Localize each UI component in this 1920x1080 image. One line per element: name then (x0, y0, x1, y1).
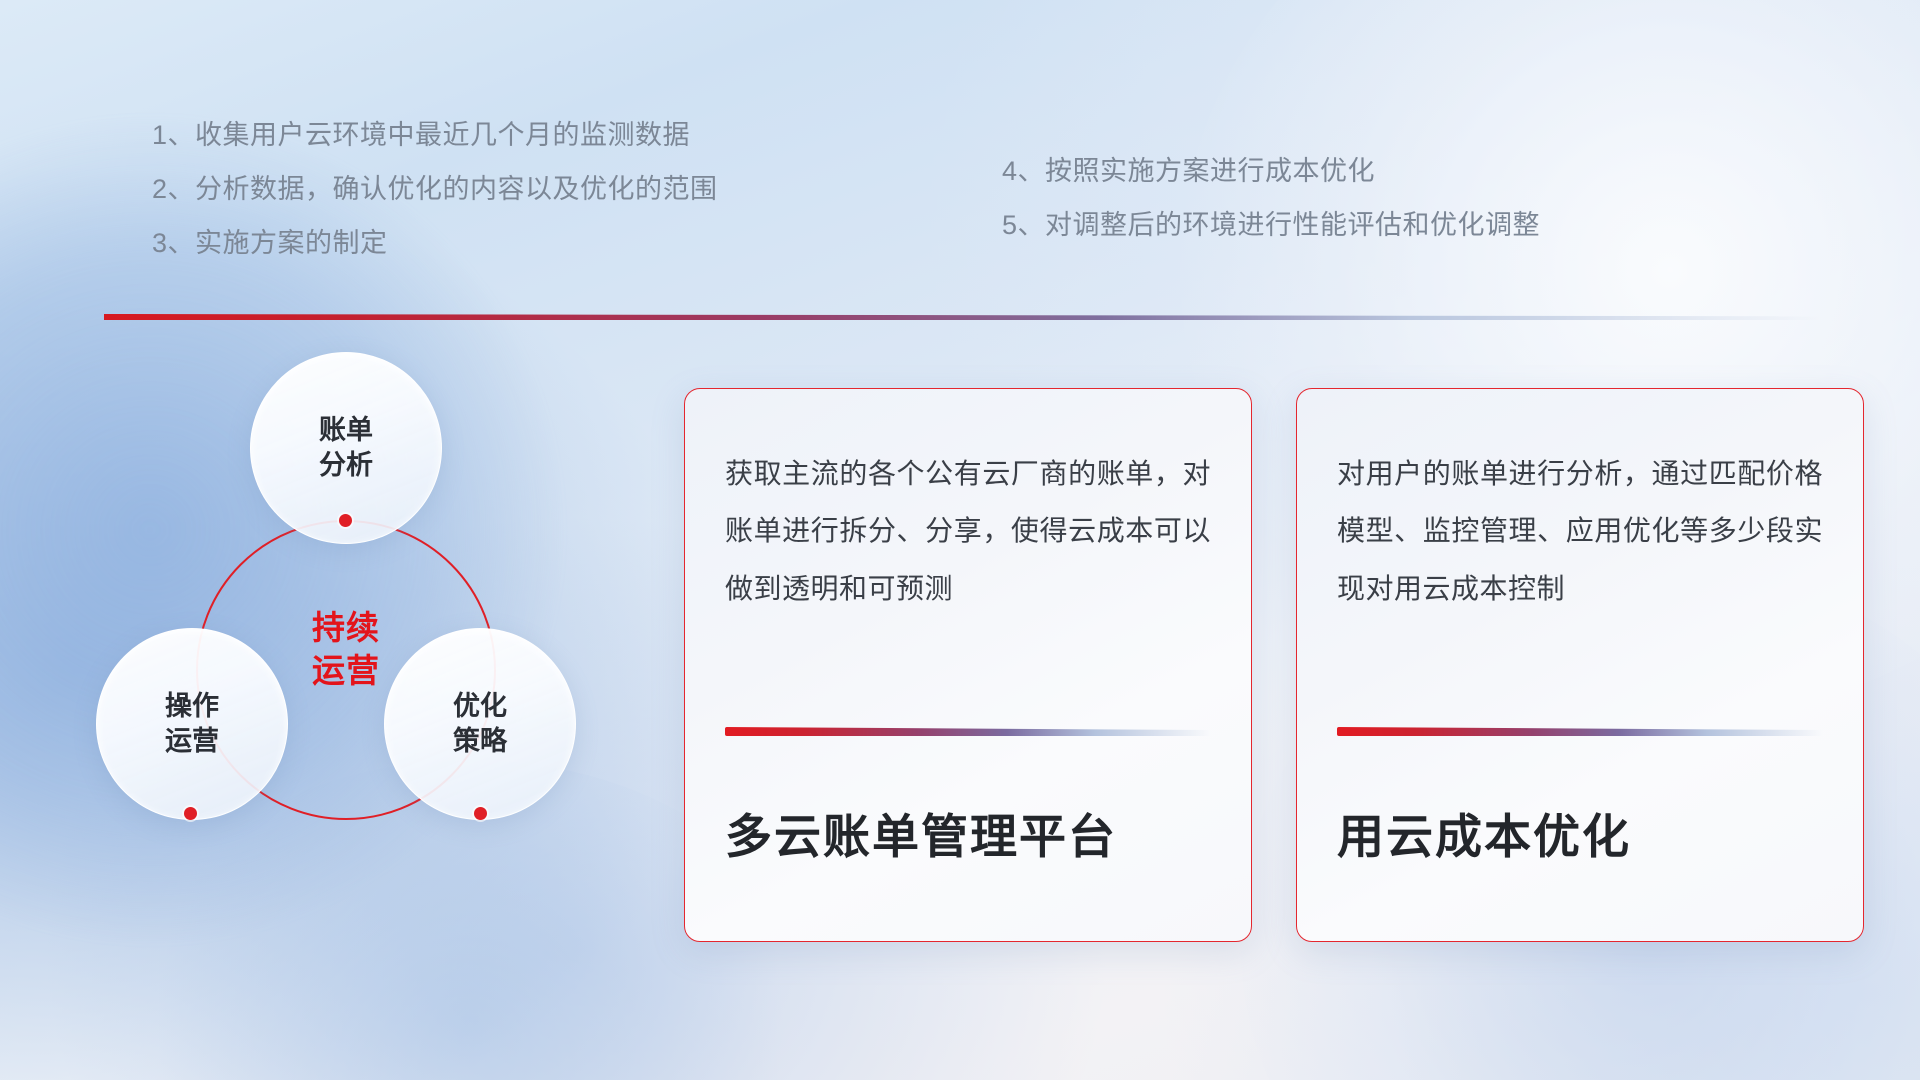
venn-bubble-line-1: 操作 (165, 689, 219, 724)
venn-bubble-line-1: 优化 (453, 689, 507, 724)
step-item: 4、按照实施方案进行成本优化 (1002, 158, 1540, 185)
venn-diagram: 持续 运营 账单 分析 操作 运营 优化 策略 (96, 352, 636, 952)
card-body-text: 获取主流的各个公有云厂商的账单，对账单进行拆分、分享，使得云成本可以做到透明和可… (725, 445, 1211, 617)
step-item: 5、对调整后的环境进行性能评估和优化调整 (1002, 212, 1540, 239)
step-item: 2、分析数据，确认优化的内容以及优化的范围 (152, 176, 718, 203)
venn-node-dot-right (474, 807, 487, 820)
venn-node-dot-top (339, 514, 352, 527)
slide-canvas: 1、收集用户云环境中最近几个月的监测数据 2、分析数据，确认优化的内容以及优化的… (0, 0, 1920, 1080)
venn-bubble-optimization-strategy[interactable]: 优化 策略 (384, 628, 576, 820)
steps-list-right: 4、按照实施方案进行成本优化 5、对调整后的环境进行性能评估和优化调整 (1002, 158, 1540, 266)
venn-bubble-operations[interactable]: 操作 运营 (96, 628, 288, 820)
venn-node-dot-left (184, 807, 197, 820)
venn-bubble-line-1: 账单 (319, 413, 373, 448)
venn-bubble-line-2: 运营 (165, 724, 219, 759)
card-divider-rule (1337, 727, 1823, 736)
steps-list-left: 1、收集用户云环境中最近几个月的监测数据 2、分析数据，确认优化的内容以及优化的… (152, 122, 718, 284)
feature-card-cloud-cost-optimization[interactable]: 对用户的账单进行分析，通过匹配价格模型、监控管理、应用优化等多少段实现对用云成本… (1296, 388, 1864, 942)
step-item: 3、实施方案的制定 (152, 230, 718, 257)
feature-card-multicloud-billing[interactable]: 获取主流的各个公有云厂商的账单，对账单进行拆分、分享，使得云成本可以做到透明和可… (684, 388, 1252, 942)
venn-bubble-line-2: 策略 (453, 724, 507, 759)
card-divider-rule (725, 727, 1211, 736)
venn-bubble-line-2: 分析 (319, 448, 373, 483)
card-body-text: 对用户的账单进行分析，通过匹配价格模型、监控管理、应用优化等多少段实现对用云成本… (1337, 445, 1823, 617)
card-title: 用云成本优化 (1337, 798, 1823, 867)
card-title: 多云账单管理平台 (725, 798, 1211, 867)
venn-center-line-1: 持续 (261, 607, 431, 650)
step-item: 1、收集用户云环境中最近几个月的监测数据 (152, 122, 718, 149)
section-divider-rule (104, 314, 1822, 320)
